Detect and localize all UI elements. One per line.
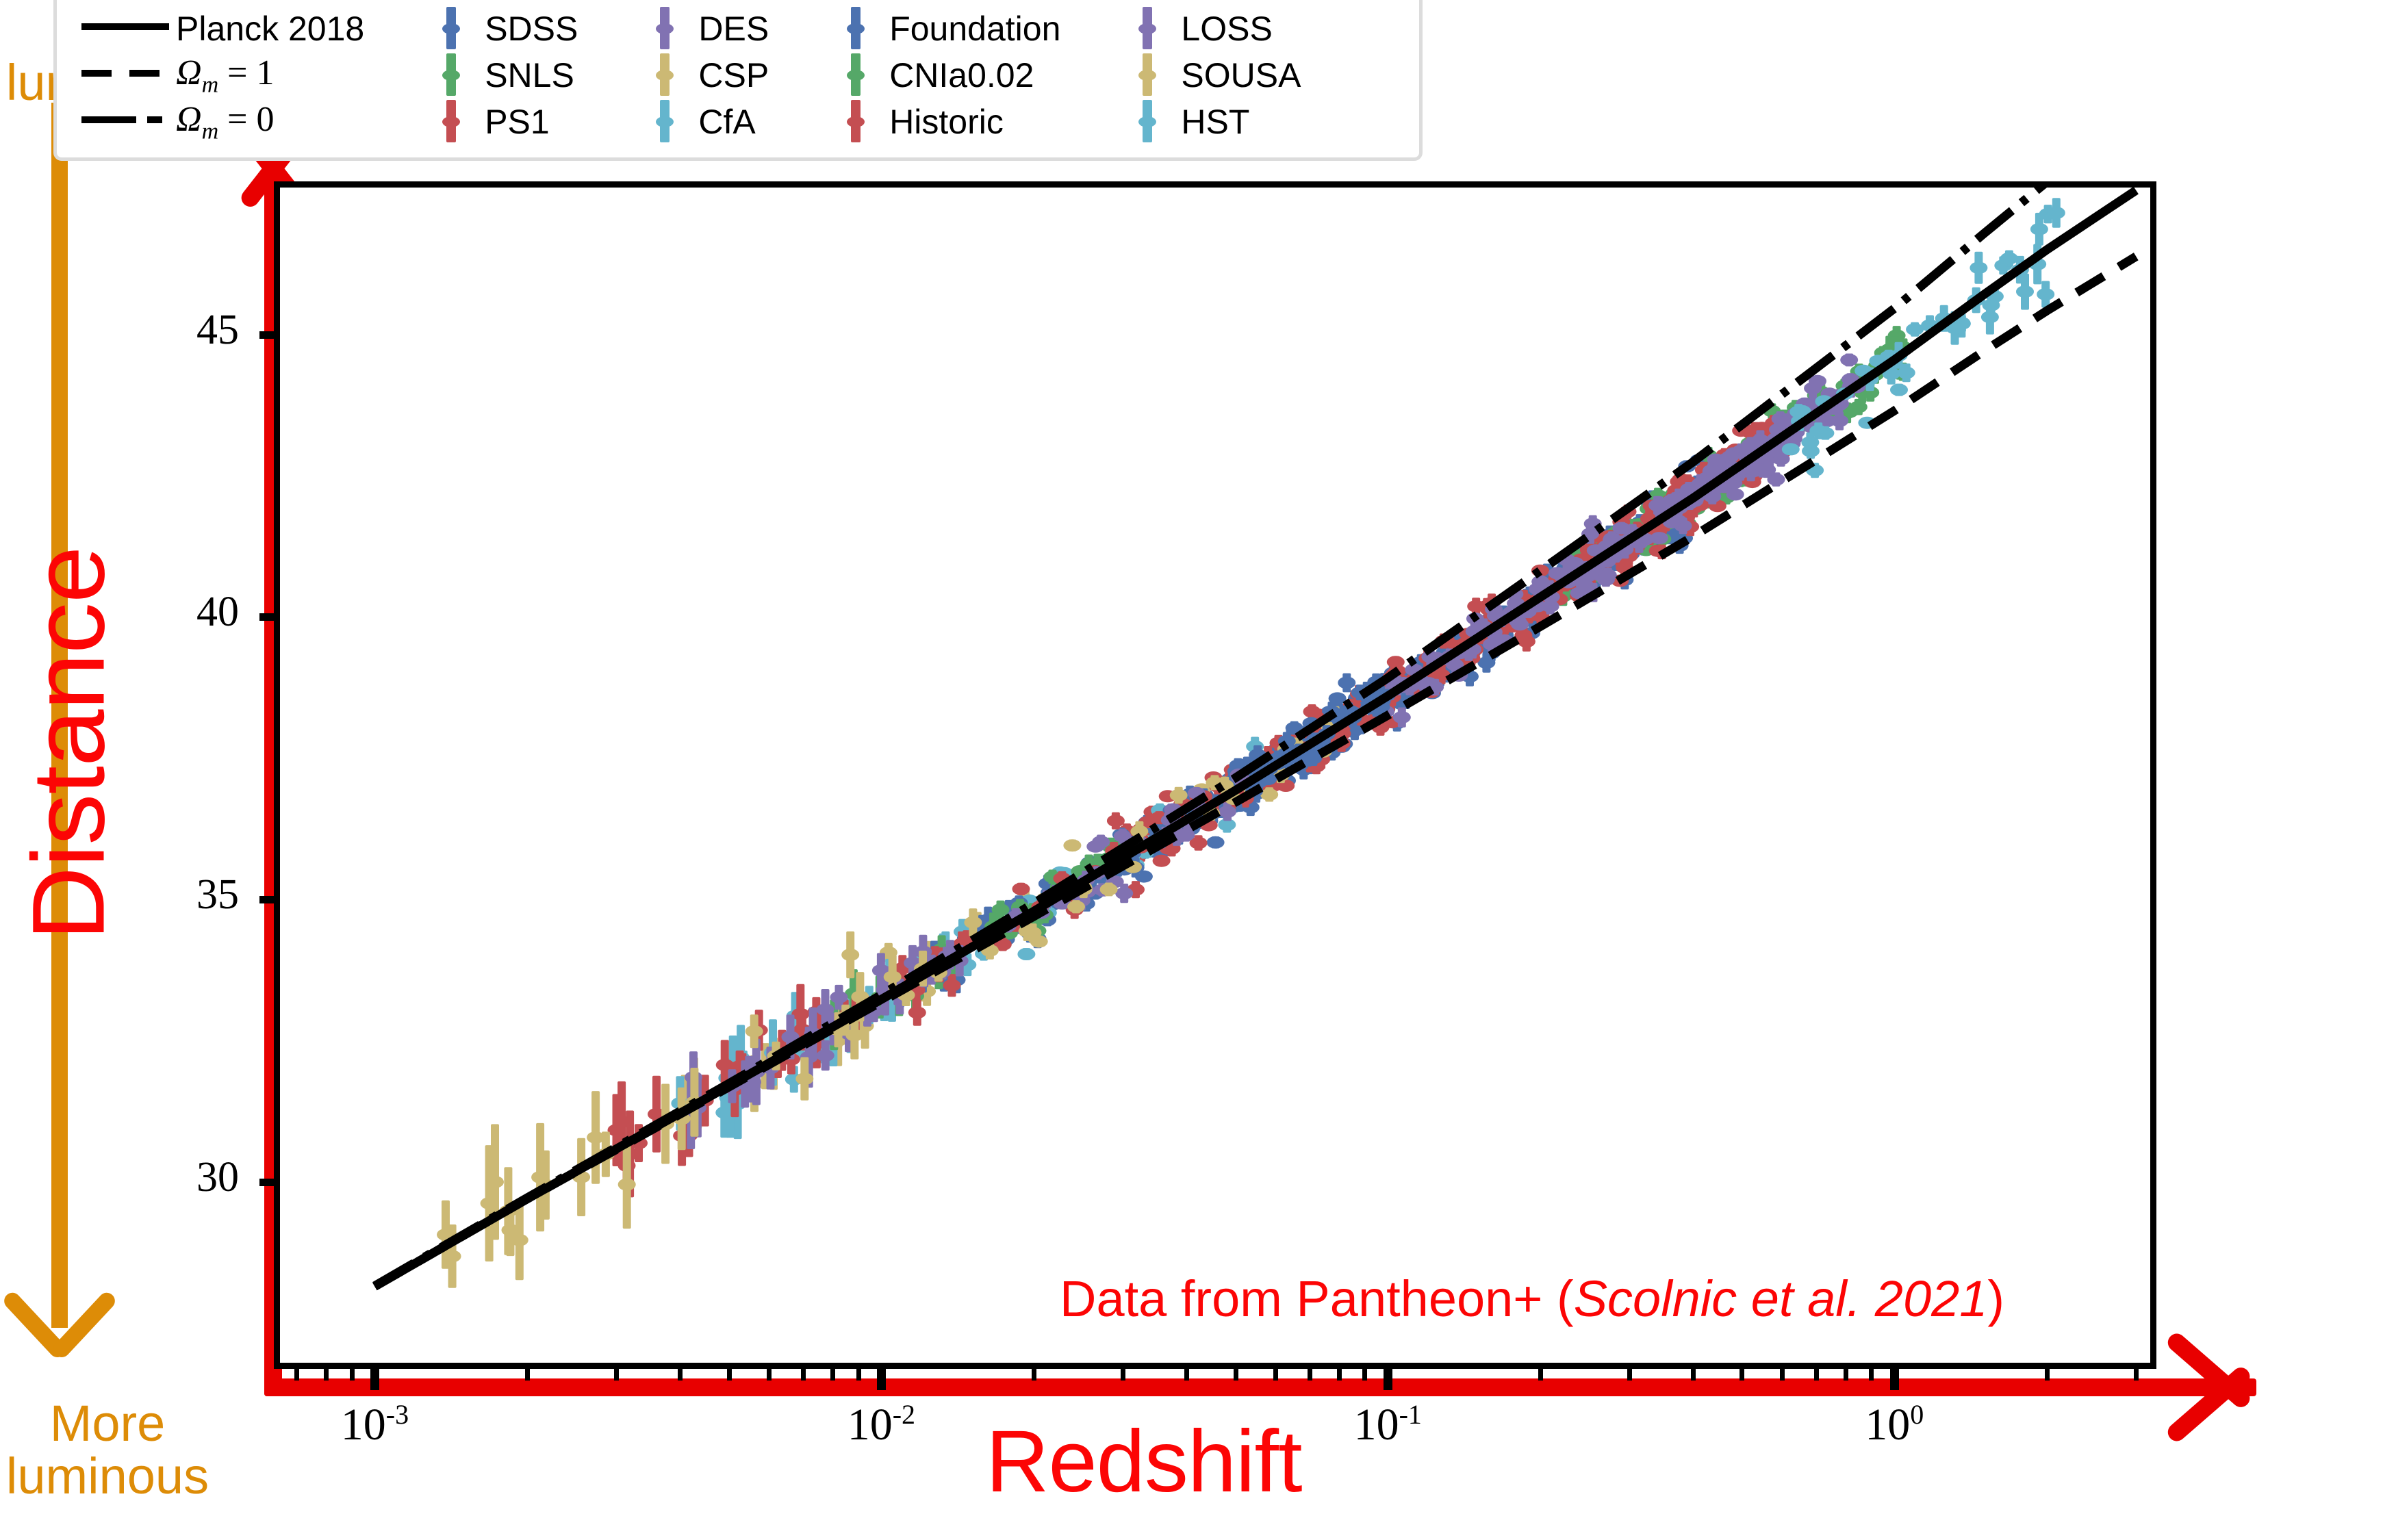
x-tick-minor	[1184, 1363, 1189, 1381]
model-curves-layer	[280, 188, 2150, 1363]
y-tick-label: 45	[61, 306, 239, 355]
legend-marker-csp	[631, 52, 698, 99]
legend-marker-cfa	[631, 99, 698, 145]
attribution-citation: Scolnic et al. 2021	[1574, 1270, 1988, 1327]
legend-marker-ps1	[418, 99, 485, 145]
legend-line-label: Ωm = 1	[176, 52, 418, 99]
x-tick-major	[1384, 1363, 1392, 1390]
x-tick-label: 100	[1792, 1398, 1997, 1451]
figure-root: Less luminous More luminous Distance Red…	[0, 0, 2396, 1540]
x-tick-minor	[1308, 1363, 1312, 1381]
legend-marker-des	[631, 5, 698, 52]
legend-point-icon	[847, 23, 865, 34]
legend-marker-sousa	[1114, 52, 1181, 99]
legend-label-sdss: SDSS	[485, 5, 631, 52]
x-tick-major	[370, 1363, 379, 1390]
y-tick-label: 35	[61, 871, 239, 919]
x-tick-minor	[1234, 1363, 1238, 1381]
attribution-suffix: )	[1987, 1270, 2004, 1327]
legend-marker-cnia0-02	[822, 52, 889, 99]
x-tick-minor	[1121, 1363, 1125, 1381]
legend-line-label: Planck 2018	[176, 5, 418, 52]
x-tick-minor	[1337, 1363, 1342, 1381]
legend-label-foundation: Foundation	[889, 5, 1114, 52]
x-tick-minor	[1032, 1363, 1036, 1381]
x-tick-minor	[525, 1363, 530, 1381]
legend-point-icon	[656, 70, 674, 81]
line-style-dashdot-icon	[81, 116, 169, 123]
annotation-more-luminous: More luminous	[0, 1398, 220, 1503]
x-tick-minor	[727, 1363, 732, 1381]
legend[interactable]: Planck 2018SDSSDESFoundationLOSSΩm = 1SN…	[53, 0, 1423, 161]
x-tick-minor	[1362, 1363, 1367, 1381]
x-tick-minor	[350, 1363, 355, 1381]
y-tick	[259, 1179, 280, 1186]
x-tick-minor	[2045, 1363, 2050, 1381]
plot-canvas	[280, 188, 2150, 1363]
legend-marker-loss	[1114, 5, 1181, 52]
x-axis-title: Redshift	[986, 1411, 1302, 1512]
legend-table: Planck 2018SDSSDESFoundationLOSSΩm = 1SN…	[73, 5, 1354, 145]
x-tick-minor	[1538, 1363, 1543, 1381]
x-tick-minor	[830, 1363, 835, 1381]
legend-label-des: DES	[698, 5, 822, 52]
legend-marker-sdss	[418, 5, 485, 52]
legend-line-swatch	[73, 5, 176, 52]
legend-line-label: Ωm = 0	[176, 99, 418, 145]
legend-line-swatch	[73, 52, 176, 99]
x-tick-major	[1890, 1363, 1899, 1390]
x-tick-minor	[801, 1363, 806, 1381]
legend-label-csp: CSP	[698, 52, 822, 99]
legend-label-cfa: CfA	[698, 99, 822, 145]
legend-row: Ωm = 0PS1CfAHistoricHST	[73, 99, 1354, 145]
y-axis-title: Distance	[10, 381, 128, 1107]
legend-point-icon	[442, 70, 460, 81]
legend-label-hst: HST	[1181, 99, 1354, 145]
legend-point-icon	[656, 116, 674, 127]
y-tick-label: 40	[61, 588, 239, 637]
x-tick-minor	[1739, 1363, 1744, 1381]
legend-label-loss: LOSS	[1181, 5, 1354, 52]
legend-point-icon	[847, 70, 865, 81]
legend-marker-snls	[418, 52, 485, 99]
model-curve-dashdot	[374, 188, 2136, 1286]
x-tick-minor	[1844, 1363, 1848, 1381]
model-curve-dashed	[374, 257, 2136, 1287]
x-tick-minor	[2134, 1363, 2139, 1381]
attribution-prefix: Data from Pantheon+ (	[1060, 1270, 1574, 1327]
legend-point-icon	[442, 116, 460, 127]
legend-point-icon	[1138, 70, 1156, 81]
x-tick-minor	[767, 1363, 772, 1381]
data-attribution: Data from Pantheon+ (Scolnic et al. 2021…	[1060, 1270, 2004, 1328]
x-tick-minor	[324, 1363, 329, 1381]
legend-label-sousa: SOUSA	[1181, 52, 1354, 99]
legend-point-icon	[656, 23, 674, 34]
x-tick-minor	[1691, 1363, 1696, 1381]
legend-point-icon	[1138, 116, 1156, 127]
y-tick-label: 30	[61, 1153, 239, 1202]
legend-point-icon	[442, 23, 460, 34]
x-tick-minor	[1273, 1363, 1278, 1381]
legend-label-ps1: PS1	[485, 99, 631, 145]
x-tick-minor	[294, 1363, 299, 1381]
x-tick-minor	[1627, 1363, 1632, 1381]
x-tick-minor	[614, 1363, 619, 1381]
legend-row: Ωm = 1SNLSCSPCNIa0.02SOUSA	[73, 52, 1354, 99]
legend-marker-historic	[822, 99, 889, 145]
x-tick-minor	[678, 1363, 683, 1381]
x-tick-label: 10-3	[272, 1398, 477, 1451]
x-tick-major	[877, 1363, 886, 1390]
line-style-solid-icon	[81, 23, 169, 30]
y-tick	[259, 331, 280, 339]
legend-label-cnia0-02: CNIa0.02	[889, 52, 1114, 99]
plot-area: 3035404510-310-210-1100	[274, 181, 2156, 1369]
x-tick-minor	[856, 1363, 861, 1381]
legend-marker-foundation	[822, 5, 889, 52]
x-tick-label: 10-1	[1285, 1398, 1490, 1451]
legend-label-snls: SNLS	[485, 52, 631, 99]
x-tick-minor	[1869, 1363, 1874, 1381]
x-tick-label: 10-2	[778, 1398, 984, 1451]
legend-point-icon	[847, 116, 865, 127]
x-tick-minor	[1814, 1363, 1819, 1381]
line-style-dashed-icon	[81, 70, 169, 77]
legend-line-swatch	[73, 99, 176, 145]
model-curve-solid	[374, 190, 2136, 1287]
red-x-axis-bar	[264, 1378, 2256, 1396]
legend-point-icon	[1138, 23, 1156, 34]
y-tick	[259, 613, 280, 621]
legend-marker-hst	[1114, 99, 1181, 145]
x-tick-minor	[1780, 1363, 1785, 1381]
y-tick	[259, 896, 280, 903]
legend-row: Planck 2018SDSSDESFoundationLOSS	[73, 5, 1354, 52]
legend-label-historic: Historic	[889, 99, 1114, 145]
